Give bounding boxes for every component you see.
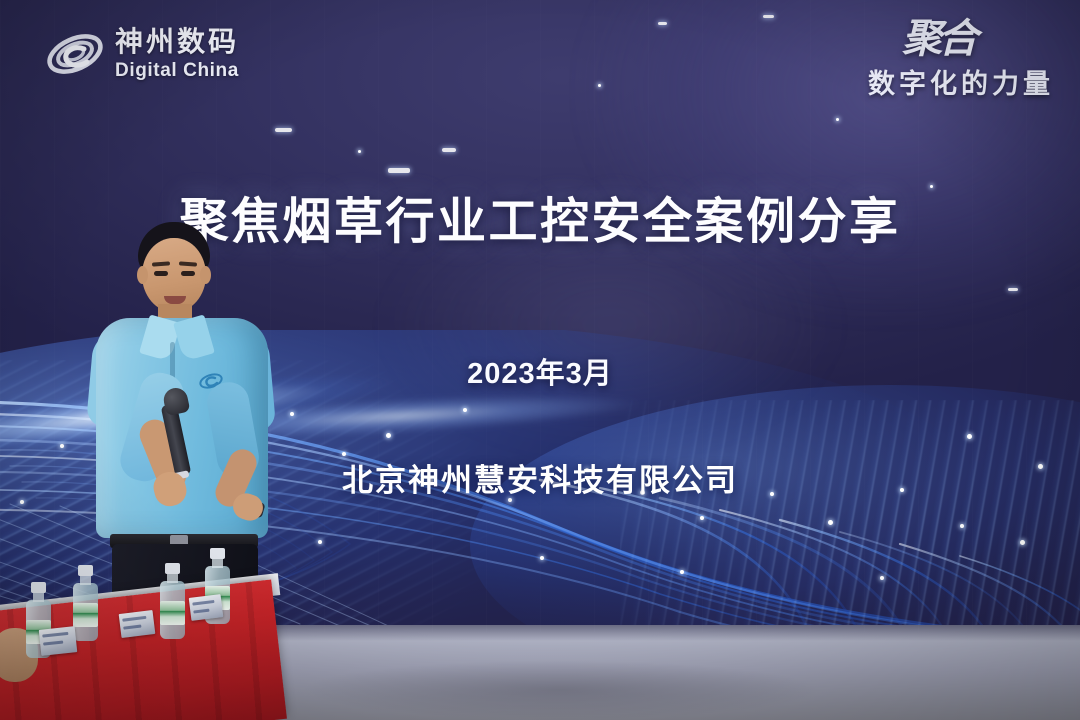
- event-logo-tagline: 数字化的力量: [868, 62, 1054, 101]
- name-card: [189, 594, 224, 621]
- digital-china-logo: 神州数码 Digital China: [44, 20, 274, 88]
- digital-china-logo-chinese: 神州数码: [115, 28, 239, 56]
- event-logo: 聚合 数字化的力量: [868, 18, 1054, 101]
- presenter-eye-left: [154, 271, 168, 276]
- diagonal-light-streaks-right: [620, 400, 1080, 632]
- water-bottle: [73, 565, 98, 643]
- name-card: [119, 610, 156, 638]
- digital-china-logo-english: Digital China: [115, 61, 239, 80]
- digital-china-swirl-icon: [44, 25, 106, 83]
- name-card: [39, 626, 78, 656]
- presenter-ear-right: [200, 266, 211, 284]
- presenter-eye-right: [181, 271, 195, 276]
- conference-photo: 神州数码 Digital China 聚合 数字化的力量 聚焦烟草行业工控安全案…: [0, 0, 1080, 720]
- presenter-ear-left: [137, 266, 148, 284]
- event-logo-calligraphy: 聚合: [868, 18, 1054, 60]
- water-bottle: [160, 563, 185, 641]
- stage-floor-reflection: [300, 660, 820, 720]
